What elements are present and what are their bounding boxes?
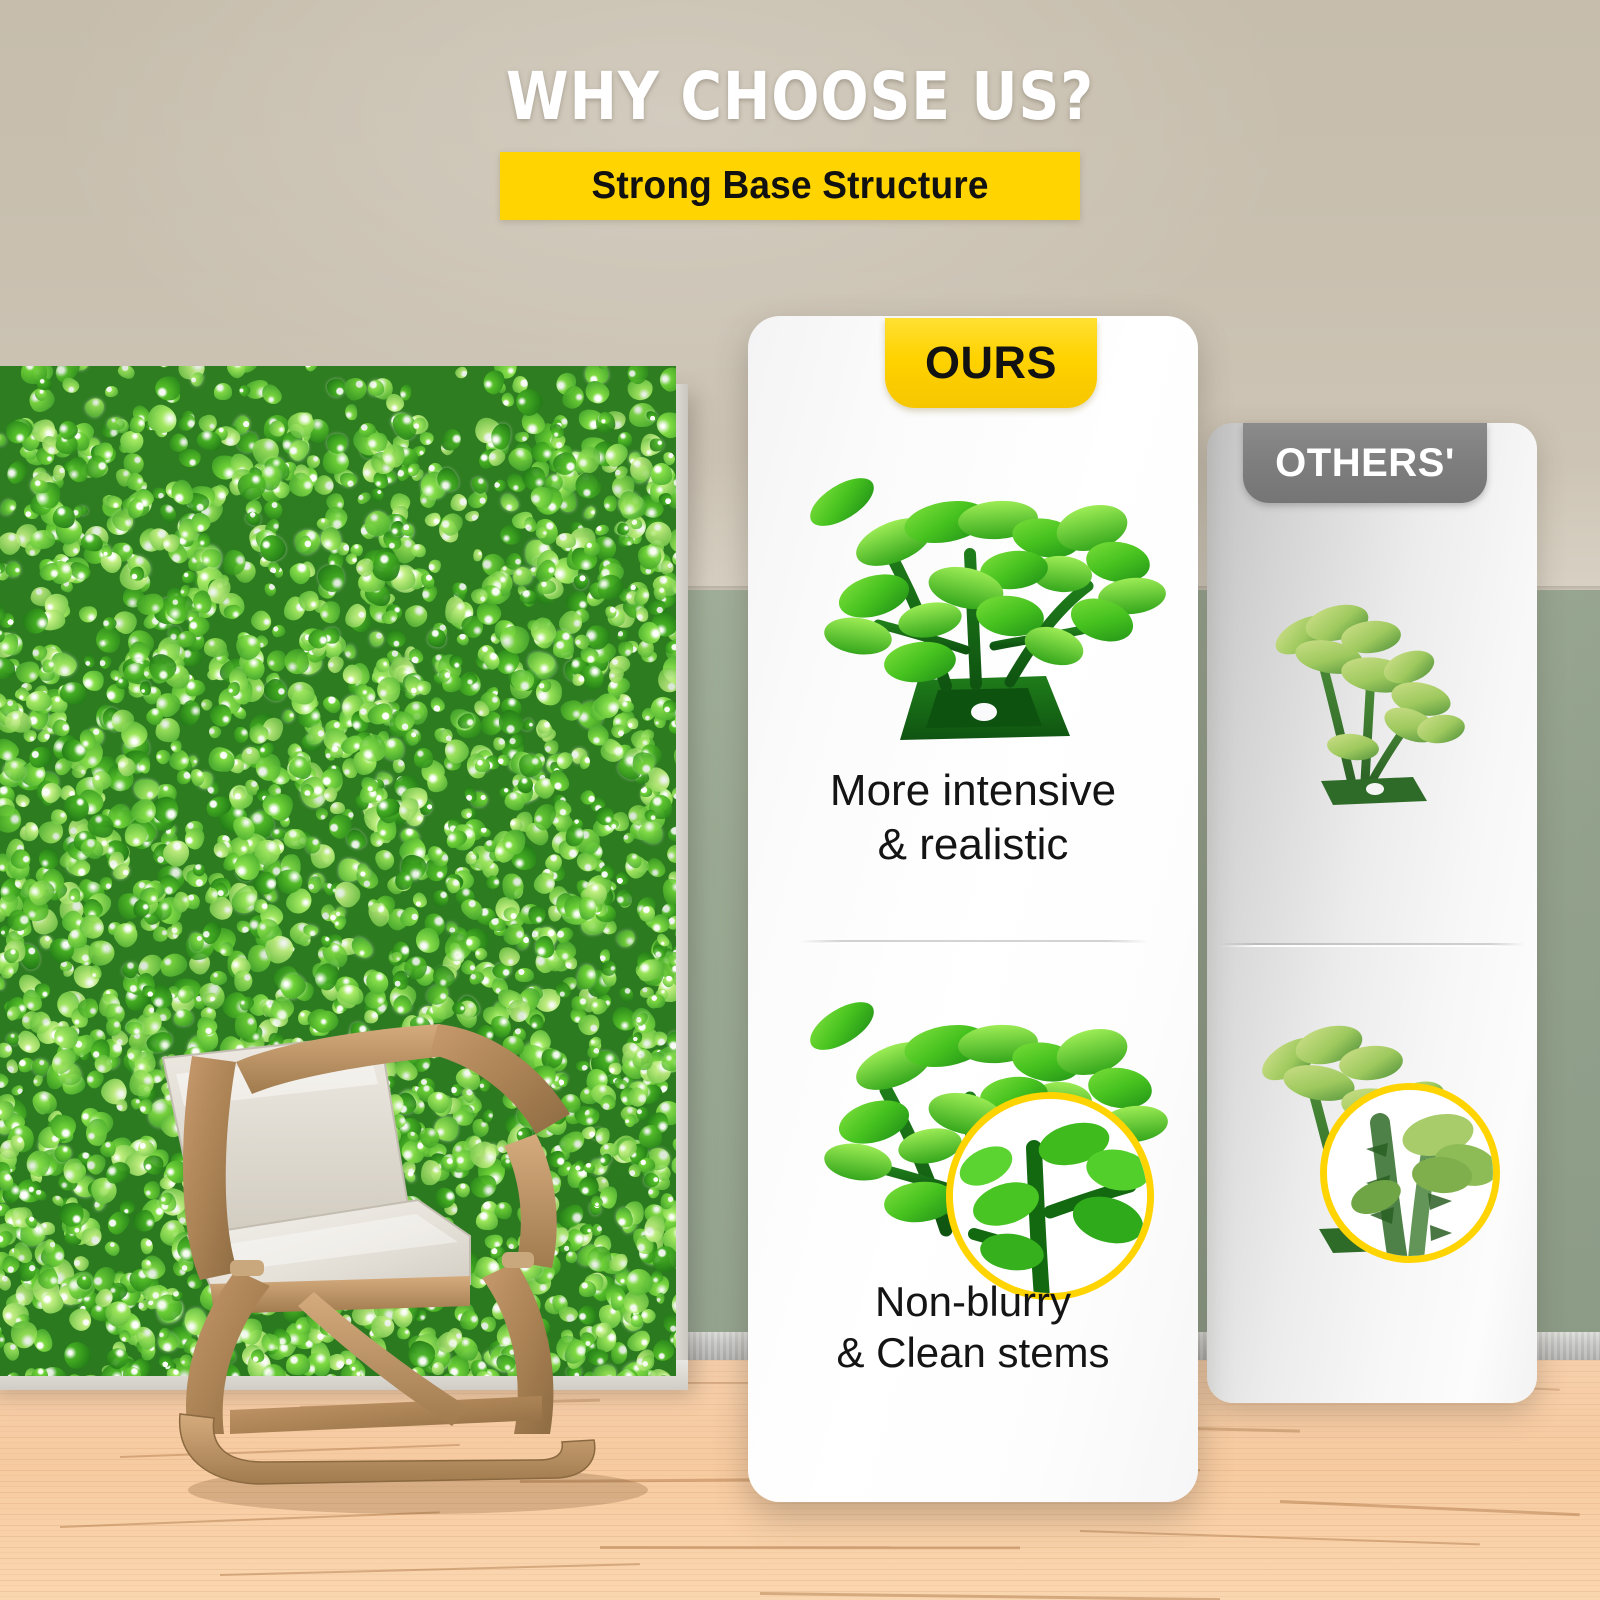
ours-caption-bottom-line1: Non-blurry (748, 1276, 1198, 1327)
subtitle-banner-label: Strong Base Structure (591, 164, 988, 208)
ours-caption-top-line1: More intensive (748, 764, 1198, 818)
ours-caption-top-line2: & realistic (748, 818, 1198, 872)
page-title: WHY CHOOSE US? (112, 58, 1488, 135)
subtitle-banner: Strong Base Structure (500, 152, 1080, 220)
ours-product-photo-top (770, 450, 1184, 750)
scene-stage: WHY CHOOSE US? Strong Base Structure (0, 0, 1600, 1600)
others-card (1207, 423, 1537, 1403)
ours-card: More intensive & realistic (748, 316, 1198, 1502)
others-badge-label: OTHERS' (1275, 441, 1455, 486)
others-card-divider (1219, 943, 1525, 946)
ours-badge-label: OURS (925, 337, 1057, 389)
others-badge: OTHERS' (1243, 423, 1487, 503)
ours-caption-bottom: Non-blurry & Clean stems (748, 1276, 1198, 1378)
others-product-photo-top (1225, 579, 1517, 809)
ours-caption-bottom-line2: & Clean stems (748, 1327, 1198, 1378)
ours-badge: OURS (885, 318, 1097, 408)
ours-card-divider (800, 940, 1148, 943)
others-zoom-ring (1320, 1083, 1500, 1263)
ours-caption-top: More intensive & realistic (748, 764, 1198, 871)
rocking-chair (118, 1022, 678, 1522)
ours-zoom-ring (946, 1092, 1154, 1300)
